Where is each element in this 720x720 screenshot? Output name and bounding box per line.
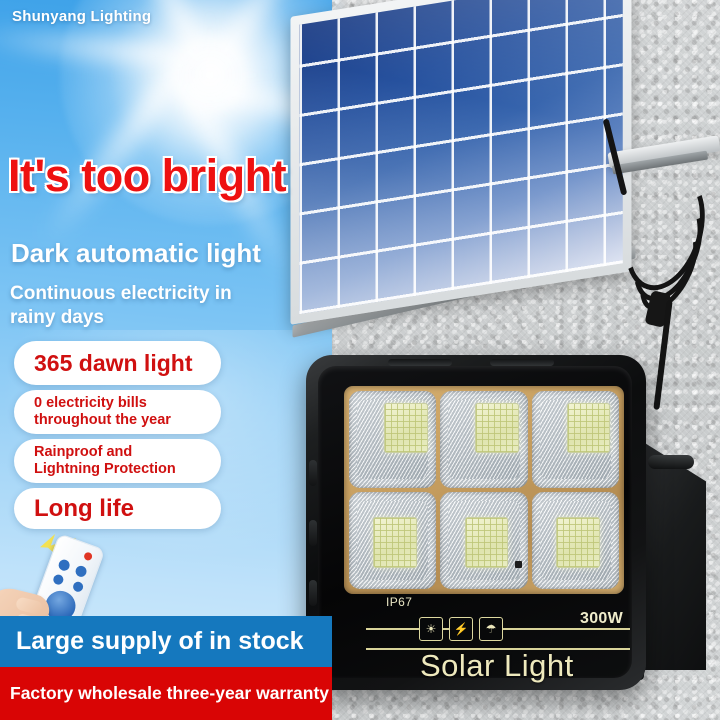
- finger: [15, 596, 43, 615]
- solar-panel-frame: [290, 0, 631, 325]
- remote-button[interactable]: [74, 564, 88, 578]
- led-chip-array: [384, 403, 428, 453]
- wattage-label: 300W: [580, 610, 623, 628]
- badge-label-line1: Rainproof and: [34, 444, 176, 461]
- remote-power-button[interactable]: [83, 551, 93, 561]
- brand-logo-text: Shunyang Lighting: [12, 8, 151, 25]
- remote-button[interactable]: [72, 580, 85, 593]
- led-module: [532, 492, 619, 589]
- led-chip-array: [475, 403, 519, 453]
- led-module: [349, 391, 436, 488]
- badge-zero-bills[interactable]: 0 electricity bills throughout the year: [14, 390, 221, 434]
- led-chip-array: [465, 517, 509, 567]
- led-chip-array: [556, 517, 600, 567]
- led-module: [440, 492, 527, 589]
- housing-side-slot: [309, 520, 317, 546]
- stock-banner: Large supply of in stock: [0, 616, 332, 667]
- badge-label: Long life: [34, 495, 134, 523]
- housing-side-slot: [309, 580, 317, 606]
- vent-slot: [388, 359, 452, 366]
- product-name-plate: Solar Light: [420, 648, 574, 684]
- badge-label-line2: throughout the year: [34, 412, 171, 429]
- warranty-banner: Factory wholesale three-year warranty: [0, 667, 332, 720]
- housing-side-slot: [309, 460, 317, 486]
- solar-charge-icon: ☀: [419, 617, 443, 641]
- bracket-slot: [648, 455, 694, 469]
- vent-slot: [490, 359, 554, 366]
- badge-365-dawn-light[interactable]: 365 dawn light: [14, 341, 221, 385]
- headline-sub-2: Continuous electricity in rainy days: [10, 282, 270, 330]
- badge-long-life[interactable]: Long life: [14, 488, 221, 529]
- solar-panel-gloss: [299, 0, 622, 314]
- badge-label-line2: Lightning Protection: [34, 461, 176, 478]
- badge-rainproof[interactable]: Rainproof and Lightning Protection: [14, 439, 221, 483]
- ip-rating-label: IP67: [386, 595, 412, 609]
- warranty-banner-label: Factory wholesale three-year warranty: [10, 683, 329, 704]
- headline-main: It's too bright: [8, 150, 286, 202]
- stock-banner-label: Large supply of in stock: [16, 627, 304, 656]
- led-faceplate: [344, 386, 624, 594]
- led-chip-array: [373, 517, 417, 567]
- led-module: [440, 391, 527, 488]
- light-sensor-icon: [515, 561, 522, 568]
- product-advertisement-poster: IP67 ☀ ⚡ ☂ 300W Solar Light Shunyang Lig…: [0, 0, 720, 720]
- led-module: [532, 391, 619, 488]
- led-module: [349, 492, 436, 589]
- waterproof-icon: ☂: [479, 617, 503, 641]
- led-chip-array: [567, 403, 611, 453]
- badge-label-line1: 0 electricity bills: [34, 395, 171, 412]
- remote-button[interactable]: [52, 573, 65, 586]
- badge-label: 365 dawn light: [34, 350, 192, 377]
- lightning-protection-icon: ⚡: [449, 617, 473, 641]
- headline-sub-1: Dark automatic light: [11, 238, 261, 269]
- remote-button[interactable]: [57, 558, 71, 572]
- decorative-line: [500, 628, 630, 630]
